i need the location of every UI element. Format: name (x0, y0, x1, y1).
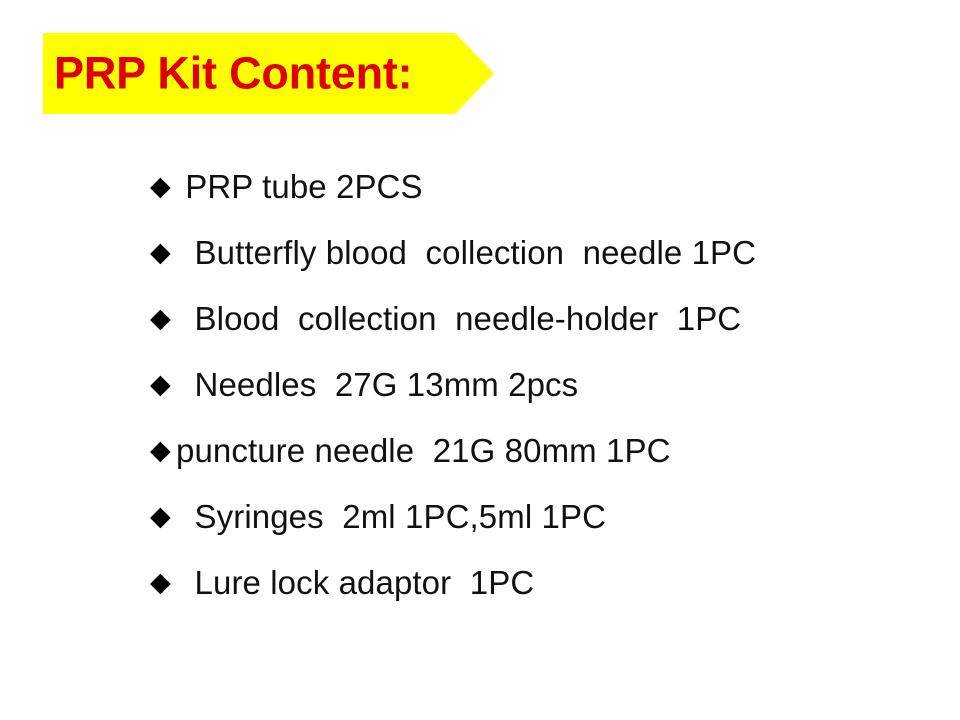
diamond-bullet-icon: ◆ (150, 366, 176, 403)
kit-content-list: ◆ PRP tube 2PCS ◆ Butterfly blood collec… (150, 168, 940, 630)
list-item: ◆ Lure lock adaptor 1PC (150, 564, 940, 630)
list-item: ◆ Blood collection needle-holder 1PC (150, 300, 940, 366)
diamond-bullet-icon: ◆ (150, 564, 176, 601)
list-item-label: Blood collection needle-holder 1PC (176, 300, 741, 337)
list-item-label: Needles 27G 13mm 2pcs (176, 366, 578, 403)
diamond-bullet-icon: ◆ (150, 498, 176, 535)
list-item: ◆ Syringes 2ml 1PC,5ml 1PC (150, 498, 940, 564)
list-item-label: Syringes 2ml 1PC,5ml 1PC (176, 498, 606, 535)
list-item-label: Lure lock adaptor 1PC (176, 564, 534, 601)
list-item-label: puncture needle 21G 80mm 1PC (176, 432, 671, 469)
list-item: ◆ puncture needle 21G 80mm 1PC (150, 432, 940, 498)
page-title: PRP Kit Content: (54, 50, 412, 95)
slide-canvas: PRP Kit Content: ◆ PRP tube 2PCS ◆ Butte… (0, 0, 960, 720)
list-item: ◆ Needles 27G 13mm 2pcs (150, 366, 940, 432)
list-item-label: PRP tube 2PCS (176, 168, 423, 205)
banner: PRP Kit Content: (43, 33, 494, 114)
diamond-bullet-icon: ◆ (150, 432, 176, 469)
diamond-bullet-icon: ◆ (150, 234, 176, 271)
list-item-label: Butterfly blood collection needle 1PC (176, 234, 756, 271)
diamond-bullet-icon: ◆ (150, 168, 176, 205)
list-item: ◆ Butterfly blood collection needle 1PC (150, 234, 940, 300)
diamond-bullet-icon: ◆ (150, 300, 176, 337)
list-item: ◆ PRP tube 2PCS (150, 168, 940, 234)
